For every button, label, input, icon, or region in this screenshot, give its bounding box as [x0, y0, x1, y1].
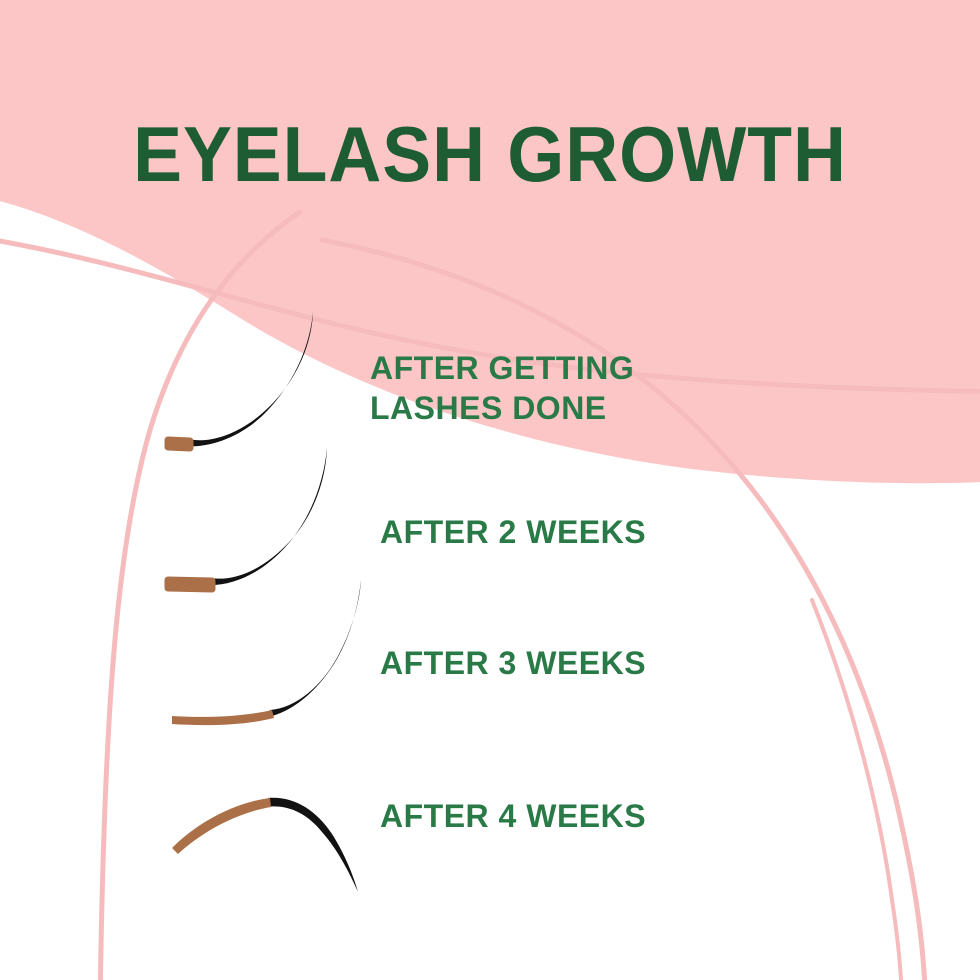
lash-extension-black	[268, 580, 361, 717]
lash-natural-base-brown	[172, 710, 274, 725]
lash-illustration-after-4-weeks	[160, 770, 400, 895]
stage-label-after-3-weeks: AFTER 3 WEEKS	[380, 643, 646, 683]
stage-label-after-2-weeks: AFTER 2 WEEKS	[380, 512, 646, 552]
lash-natural-base-brown	[172, 798, 271, 854]
stage-label-after-4-weeks: AFTER 4 WEEKS	[380, 796, 646, 836]
lash-extension-black	[266, 798, 358, 892]
lash-illustration-after-3-weeks	[150, 578, 380, 738]
lash-extension-black	[208, 448, 327, 585]
stage-label-after-getting-lashes-done: AFTER GETTING LASHES DONE	[370, 348, 634, 428]
lash-extension-black	[186, 312, 313, 446]
page-title: EYELASH GROWTH	[29, 112, 950, 196]
poster-canvas: EYELASH GROWTH AFTER GETTING LASHES DONE…	[0, 0, 980, 980]
